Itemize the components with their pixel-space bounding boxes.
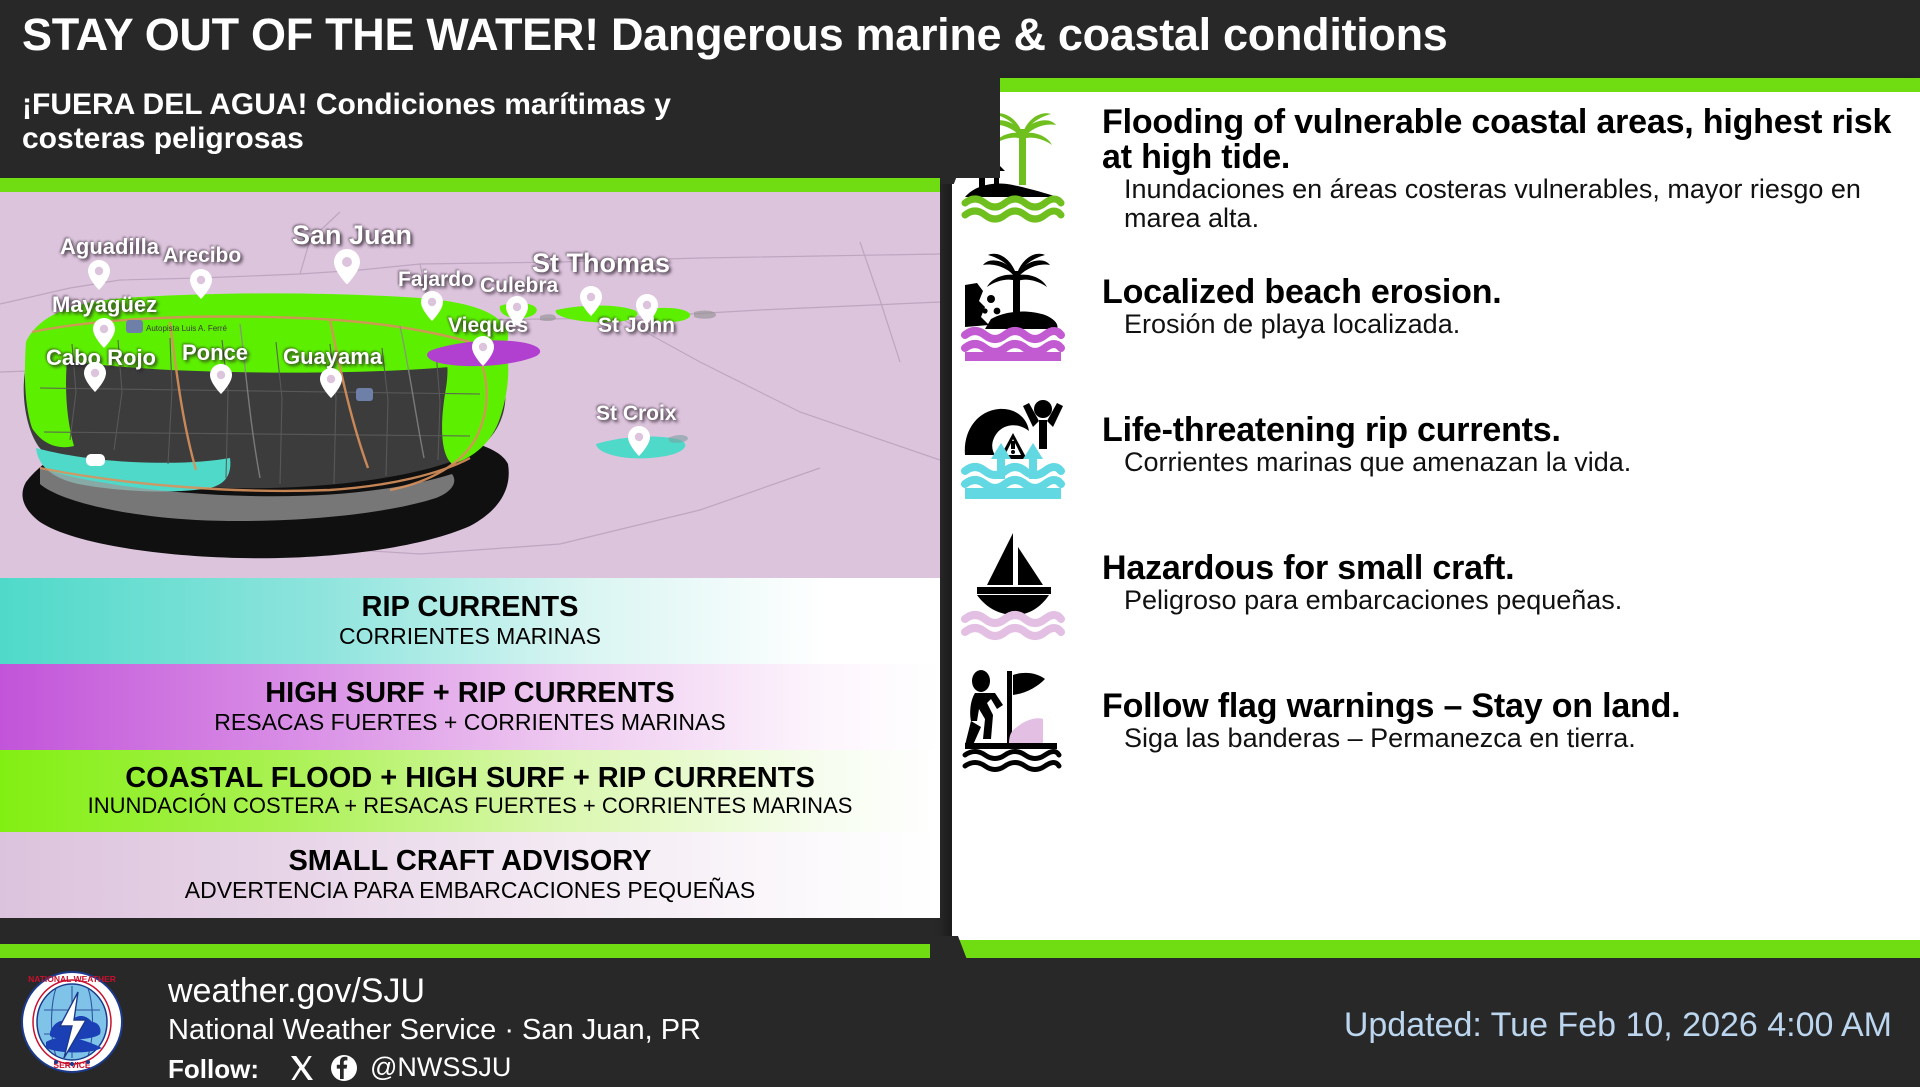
map-pin-icon: [210, 364, 232, 394]
infographic-root: STAY OUT OF THE WATER! Dangerous marine …: [0, 0, 1920, 1080]
legend-label-es: CORRIENTES MARINAS: [339, 624, 601, 648]
map-pin-icon: [190, 269, 212, 299]
nws-logo-icon: NATIONAL WEATHER SERVICE: [20, 970, 124, 1074]
hazard-label-es: Corrientes marinas que amenazan la vida.: [1102, 448, 1910, 477]
legend-label-es: RESACAS FUERTES + CORRIENTES MARINAS: [214, 710, 725, 734]
legend-label-en: COASTAL FLOOD + HIGH SURF + RIP CURRENTS: [125, 764, 815, 793]
map-pin-icon: [580, 286, 602, 316]
map-pin-icon: [93, 318, 115, 348]
hazard-items: Flooding of vulnerable coastal areas, hi…: [952, 100, 1920, 790]
map-pin-icon: [320, 368, 342, 398]
hazard-item-rip-currents: Life-threatening rip currents. Corriente…: [952, 376, 1920, 514]
hazard-label-en: Life-threatening rip currents.: [1102, 413, 1910, 448]
legend-row-small-craft-advisory: SMALL CRAFT ADVISORY ADVERTENCIA PARA EM…: [0, 832, 940, 918]
hazard-item-beach-erosion: Localized beach erosion. Erosión de play…: [952, 238, 1920, 376]
footer-url[interactable]: weather.gov/SJU: [168, 972, 425, 1011]
hazard-label-es: Inundaciones en áreas costeras vulnerabl…: [1102, 175, 1910, 232]
hazard-label-es: Erosión de playa localizada.: [1102, 310, 1910, 339]
hazard-text: Hazardous for small craft. Peligroso par…: [1102, 551, 1920, 615]
hazard-legend: RIP CURRENTS CORRIENTES MARINAS HIGH SUR…: [0, 578, 940, 918]
hazard-label-en: Localized beach erosion.: [1102, 275, 1910, 310]
beach-erosion-icon: [952, 247, 1102, 367]
hazard-item-coastal-flooding: Flooding of vulnerable coastal areas, hi…: [952, 100, 1920, 238]
map-graphic: Autopista Luis A. Ferré: [0, 192, 940, 578]
map-pin-icon: [84, 362, 106, 392]
svg-text:NATIONAL WEATHER: NATIONAL WEATHER: [28, 974, 116, 984]
legend-row-rip-currents: RIP CURRENTS CORRIENTES MARINAS: [0, 578, 940, 664]
facebook-icon[interactable]: [330, 1054, 358, 1082]
hazard-text: Life-threatening rip currents. Corriente…: [1102, 413, 1920, 477]
legend-label-en: SMALL CRAFT ADVISORY: [288, 847, 651, 876]
hazard-item-small-craft: Hazardous for small craft. Peligroso par…: [952, 514, 1920, 652]
svg-text:Autopista Luis A. Ferré: Autopista Luis A. Ferré: [146, 324, 227, 333]
beach-flag-warning-icon: [952, 661, 1102, 781]
legend-label-en: RIP CURRENTS: [362, 593, 579, 622]
rip-current-swimmer-icon: [952, 385, 1102, 505]
hazard-item-flag-warnings: Follow flag warnings – Stay on land. Sig…: [952, 652, 1920, 790]
map-pin-icon: [421, 291, 443, 321]
hazard-text: Localized beach erosion. Erosión de play…: [1102, 275, 1920, 339]
footer-follow-label: Follow:: [168, 1054, 259, 1085]
footer: NATIONAL WEATHER SERVICE weather.gov/SJU…: [0, 958, 1920, 1080]
hazard-label-es: Peligroso para embarcaciones pequeñas.: [1102, 586, 1910, 615]
legend-label-es: INUNDACIÓN COSTERA + RESACAS FUERTES + C…: [88, 794, 853, 817]
hazard-text: Flooding of vulnerable coastal areas, hi…: [1102, 105, 1920, 232]
map-pin-icon: [334, 249, 360, 284]
left-column: Autopista Luis A. Ferré Aguadilla A: [0, 192, 940, 952]
map-pin-icon: [506, 296, 528, 326]
hazard-label-en: Follow flag warnings – Stay on land.: [1102, 689, 1910, 724]
hazard-label-en: Flooding of vulnerable coastal areas, hi…: [1102, 105, 1910, 175]
updated-timestamp: Updated: Tue Feb 10, 2026 4:00 AM: [1344, 1006, 1892, 1045]
left-bottom-green-divider: [0, 944, 940, 958]
panel-green-bottom: [952, 940, 1920, 958]
map-pin-icon: [472, 336, 494, 366]
map-pin-icon: [636, 294, 658, 324]
header-green-divider: [0, 178, 940, 192]
map-pin-icon: [628, 426, 650, 456]
hazard-map[interactable]: Autopista Luis A. Ferré Aguadilla A: [0, 192, 940, 578]
hazard-label-es: Siga las banderas – Permanezca en tierra…: [1102, 724, 1910, 753]
page-subtitle-line2: costeras peligrosas: [22, 122, 862, 156]
panel-green-top: [952, 78, 1920, 92]
page-subtitle-line1: ¡FUERA DEL AGUA! Condiciones marítimas y: [22, 88, 862, 122]
x-twitter-icon[interactable]: [288, 1054, 316, 1082]
legend-row-coastal-flood: COASTAL FLOOD + HIGH SURF + RIP CURRENTS…: [0, 750, 940, 832]
hazard-label-en: Hazardous for small craft.: [1102, 551, 1910, 586]
hazard-bullet-panel: Flooding of vulnerable coastal areas, hi…: [952, 78, 1920, 958]
footer-office: National Weather Service · San Juan, PR: [168, 1014, 701, 1047]
small-craft-sailboat-icon: [952, 523, 1102, 643]
page-subtitle: ¡FUERA DEL AGUA! Condiciones marítimas y…: [22, 88, 862, 155]
legend-label-es: ADVERTENCIA PARA EMBARCACIONES PEQUEÑAS: [185, 878, 755, 902]
legend-row-high-surf-rip-currents: HIGH SURF + RIP CURRENTS RESACAS FUERTES…: [0, 664, 940, 750]
hazard-text: Follow flag warnings – Stay on land. Sig…: [1102, 689, 1920, 753]
footer-social-handle: @NWSSJU: [370, 1052, 511, 1083]
page-title: STAY OUT OF THE WATER! Dangerous marine …: [22, 12, 1892, 57]
legend-label-en: HIGH SURF + RIP CURRENTS: [265, 679, 675, 708]
map-pin-icon: [88, 260, 110, 290]
